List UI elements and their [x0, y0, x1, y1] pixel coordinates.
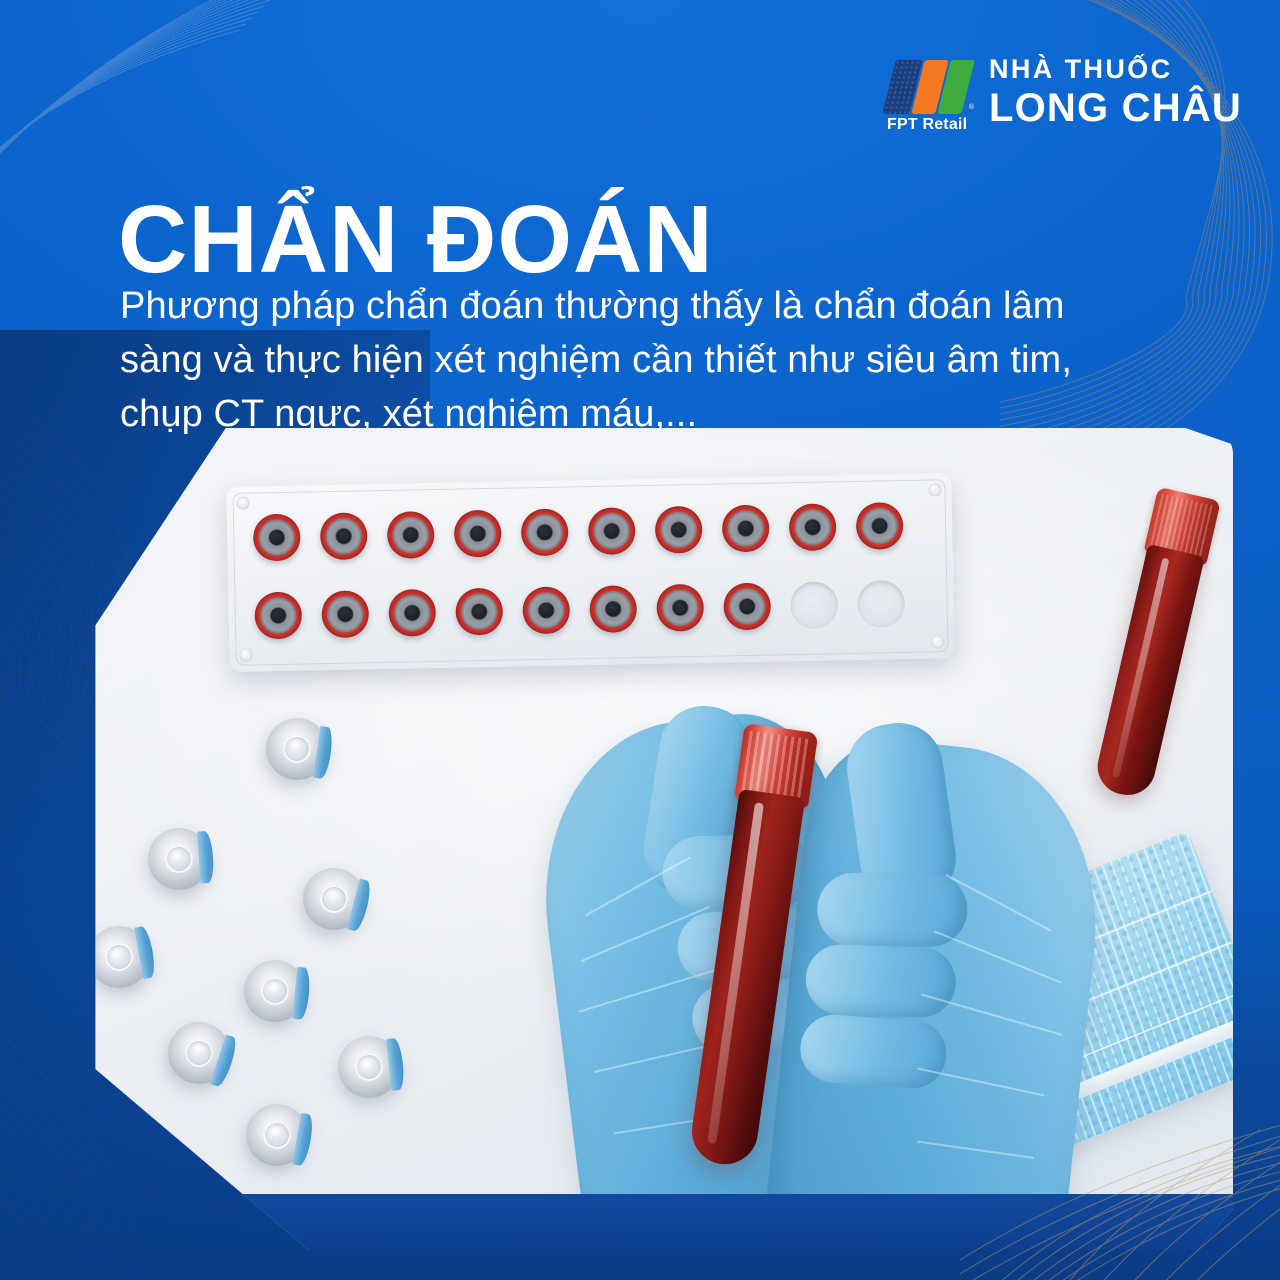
capped-test-tube: [254, 592, 302, 640]
capped-test-tube: [388, 589, 436, 637]
poster-root: ® FPT Retail NHÀ THUỐC LONG CHÂU CHẨN ĐO…: [0, 0, 1280, 1280]
brand-logo: ® FPT Retail NHÀ THUỐC LONG CHÂU: [887, 52, 1242, 132]
capped-test-tube: [588, 507, 636, 555]
capped-test-tube: [454, 510, 502, 558]
capped-test-tube: [253, 514, 301, 562]
gloved-hand-right: [762, 732, 1114, 1250]
capped-test-tube: [455, 588, 503, 636]
capped-test-tube: [521, 508, 569, 556]
rack-screw: [236, 497, 249, 510]
brand-line-2: LONG CHÂU: [989, 88, 1242, 128]
brand-line-1: NHÀ THUỐC: [989, 56, 1173, 83]
registered-mark: ®: [969, 104, 974, 111]
rack-screw: [931, 635, 944, 648]
capped-test-tube: [656, 584, 704, 632]
capped-test-tube: [722, 505, 770, 553]
fpt-retail-label: FPT Retail: [887, 116, 967, 134]
empty-rack-hole: [857, 580, 905, 628]
capped-test-tube: [856, 502, 904, 550]
rack-screw: [239, 649, 252, 662]
brand-wordmark: NHÀ THUỐC LONG CHÂU: [989, 56, 1242, 128]
empty-rack-hole: [790, 581, 838, 629]
test-tube-rack: [226, 473, 954, 672]
capped-test-tube: [589, 585, 637, 633]
fpt-logo-icon: ® FPT Retail: [887, 52, 973, 132]
capped-test-tube: [655, 506, 703, 554]
capped-test-tube: [387, 511, 435, 559]
page-body-text: Phương pháp chẩn đoán thường thấy là chẩ…: [120, 280, 1110, 442]
lab-blood-testing-photo: [48, 428, 1233, 1250]
capped-test-tube: [789, 503, 837, 551]
rack-screw: [928, 483, 941, 496]
page-title: CHẨN ĐOÁN: [118, 192, 714, 288]
capped-test-tube: [321, 590, 369, 638]
capped-test-tube: [320, 512, 368, 560]
capped-test-tube: [723, 583, 771, 631]
capped-test-tube: [522, 586, 570, 634]
